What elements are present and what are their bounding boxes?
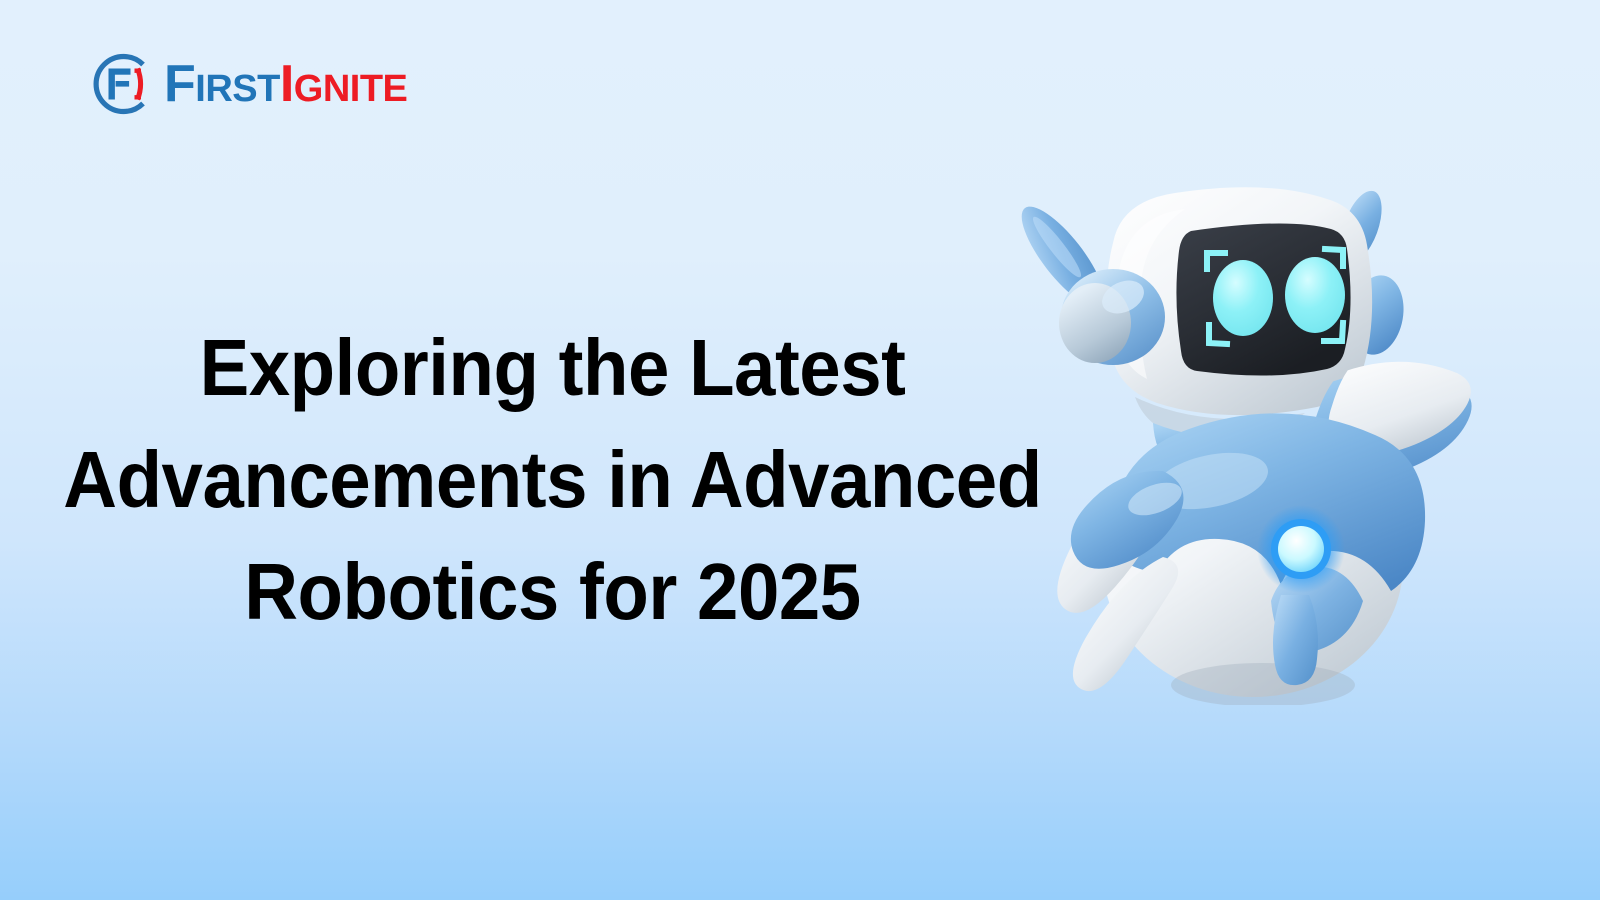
- page-title-line-2: Advancements in Advanced: [57, 424, 1047, 536]
- robot-eye-right-icon: [1285, 257, 1345, 333]
- wordmark-first-lead: F: [164, 58, 195, 110]
- firstignite-wordmark: F IRST I GNITE: [164, 58, 407, 110]
- robot-chest-light-icon: [1257, 505, 1345, 593]
- page-title-line-3: Robotics for 2025: [57, 536, 1047, 648]
- wordmark-first-rest: IRST: [195, 70, 280, 108]
- wordmark-ignite-lead: I: [280, 58, 294, 110]
- slide-canvas: F IRST I GNITE Exploring the Latest Adva…: [0, 0, 1600, 900]
- page-title-line-1: Exploring the Latest: [57, 312, 1047, 424]
- firstignite-logo[interactable]: F IRST I GNITE: [82, 46, 407, 122]
- firstignite-mark-icon: [82, 47, 156, 121]
- robot-body-accent: [1273, 595, 1318, 685]
- robot-eye-left-icon: [1213, 260, 1273, 336]
- robot-mascot-illustration: [995, 165, 1515, 705]
- page-title: Exploring the Latest Advancements in Adv…: [57, 312, 1047, 648]
- robot-face-screen: [1176, 223, 1350, 375]
- wordmark-ignite-rest: GNITE: [294, 70, 408, 108]
